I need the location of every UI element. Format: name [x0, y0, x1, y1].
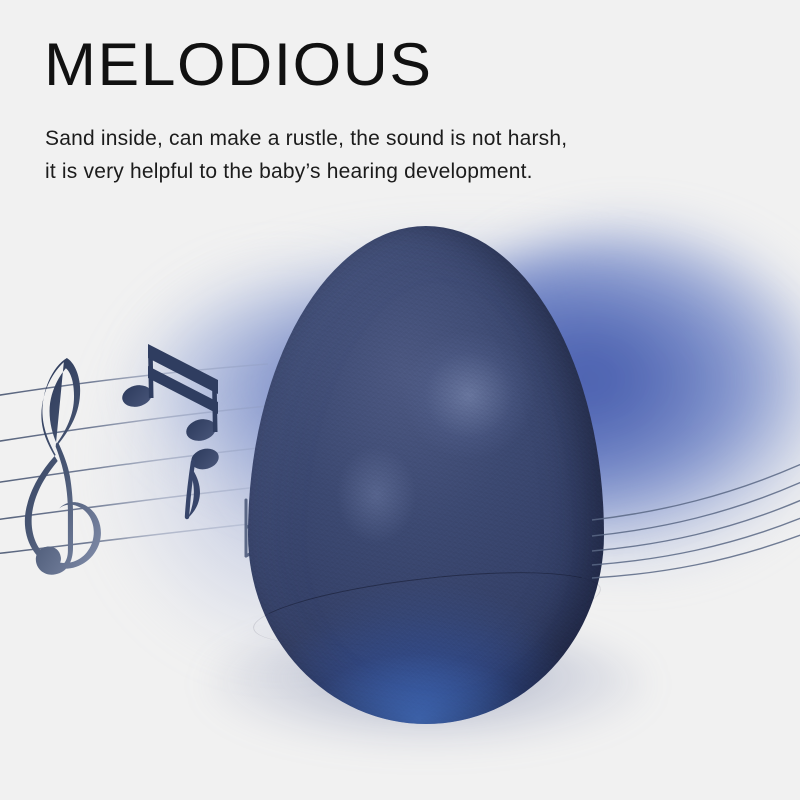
staff-lines-right: [592, 462, 800, 578]
treble-clef-icon: [25, 358, 101, 575]
egg-body: [248, 226, 604, 724]
product-description: Sand inside, can make a rustle, the soun…: [45, 122, 695, 188]
description-line-1: Sand inside, can make a rustle, the soun…: [45, 122, 695, 155]
product-banner: MELODIOUS Sand inside, can make a rustle…: [0, 0, 800, 800]
page-title: MELODIOUS: [44, 33, 433, 97]
eighth-note-icon: [187, 446, 221, 518]
description-line-2: it is very helpful to the baby’s hearing…: [45, 155, 695, 188]
staff-lines-left: [0, 364, 268, 554]
product-image-egg-shaker: [248, 226, 604, 724]
egg-rim-light: [248, 226, 604, 724]
beamed-sixteenth-notes-icon: [120, 344, 218, 444]
